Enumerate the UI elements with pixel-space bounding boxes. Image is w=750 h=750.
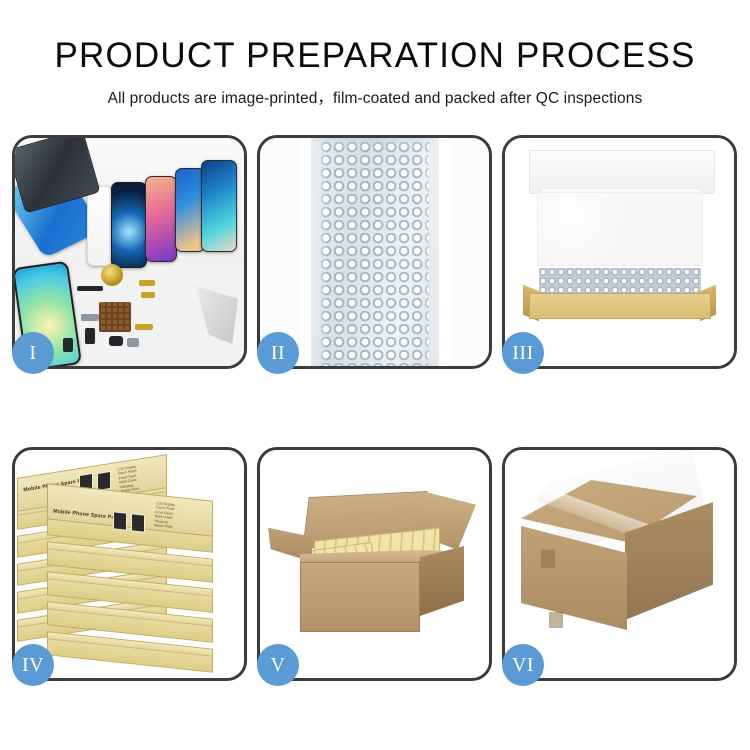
step-image-bubble-wrap xyxy=(260,138,489,366)
battery-connector-part xyxy=(85,328,95,344)
gold-connector-part xyxy=(141,292,155,298)
step-panel-bubble-wrap: II xyxy=(257,135,492,369)
speaker-part xyxy=(127,338,139,347)
step-panel-stacked-boxes: Mobile Phone Spare Parts LCD Display Tou… xyxy=(12,447,247,681)
foam-sheet xyxy=(537,192,703,266)
box-checklist: LCD Display Touch Panel Front Panel Back… xyxy=(117,465,140,494)
glass-panel xyxy=(87,186,113,266)
carton-front-panel xyxy=(521,526,627,630)
circuit-board-part xyxy=(99,302,131,332)
step-badge-1: I xyxy=(12,332,54,374)
gold-connector-part xyxy=(139,280,155,286)
step-badge-2: II xyxy=(257,332,299,374)
product-preparation-infographic: PRODUCT PREPARATION PROCESS All products… xyxy=(0,0,750,750)
vibration-motor-part xyxy=(109,336,123,346)
flex-cable-part xyxy=(77,286,103,291)
step-image-sealed-carton xyxy=(505,450,734,678)
bubble-wrap-edge-highlight xyxy=(300,138,450,366)
step-badge-5: V xyxy=(257,644,299,686)
step-badge-6: VI xyxy=(502,644,544,686)
header: PRODUCT PREPARATION PROCESS All products… xyxy=(0,0,750,108)
step-image-carton-filling xyxy=(260,450,489,678)
phone-display-blue xyxy=(111,182,147,268)
page-title: PRODUCT PREPARATION PROCESS xyxy=(0,36,750,76)
process-steps-grid: I II III xyxy=(12,135,738,681)
speaker-coil-part xyxy=(101,264,123,286)
box-screen-graphic xyxy=(113,511,127,530)
step-image-open-inner-box xyxy=(505,138,734,366)
page-subtitle: All products are image-printed，film-coat… xyxy=(0,86,750,108)
step-panel-sealed-carton: VI xyxy=(502,447,737,681)
carton-seam-tab xyxy=(549,612,563,628)
box-checklist: LCD Display Touch Panel Front Panel Back… xyxy=(154,501,176,529)
box-front-panel xyxy=(529,293,711,319)
box-screen-graphic xyxy=(131,513,145,532)
step-panel-carton-filling: V xyxy=(257,447,492,681)
step-badge-3: III xyxy=(502,332,544,374)
step-panel-phone-parts: I xyxy=(12,135,247,369)
phone-display-teal xyxy=(201,160,237,252)
carton-side-panel xyxy=(420,546,464,616)
phone-display-purple xyxy=(145,176,177,262)
step-image-stacked-boxes: Mobile Phone Spare Parts LCD Display Tou… xyxy=(15,450,244,678)
step-panel-open-inner-box: III xyxy=(502,135,737,369)
step-image-phone-parts xyxy=(15,138,244,366)
step-badge-4: IV xyxy=(12,644,54,686)
sim-tray-part xyxy=(63,338,73,352)
antenna-cable-part xyxy=(135,324,153,330)
camera-module-part xyxy=(81,314,99,321)
carton-seam-tab xyxy=(541,550,555,568)
carton-front-panel xyxy=(300,562,420,632)
tweezers-tool xyxy=(196,286,238,344)
